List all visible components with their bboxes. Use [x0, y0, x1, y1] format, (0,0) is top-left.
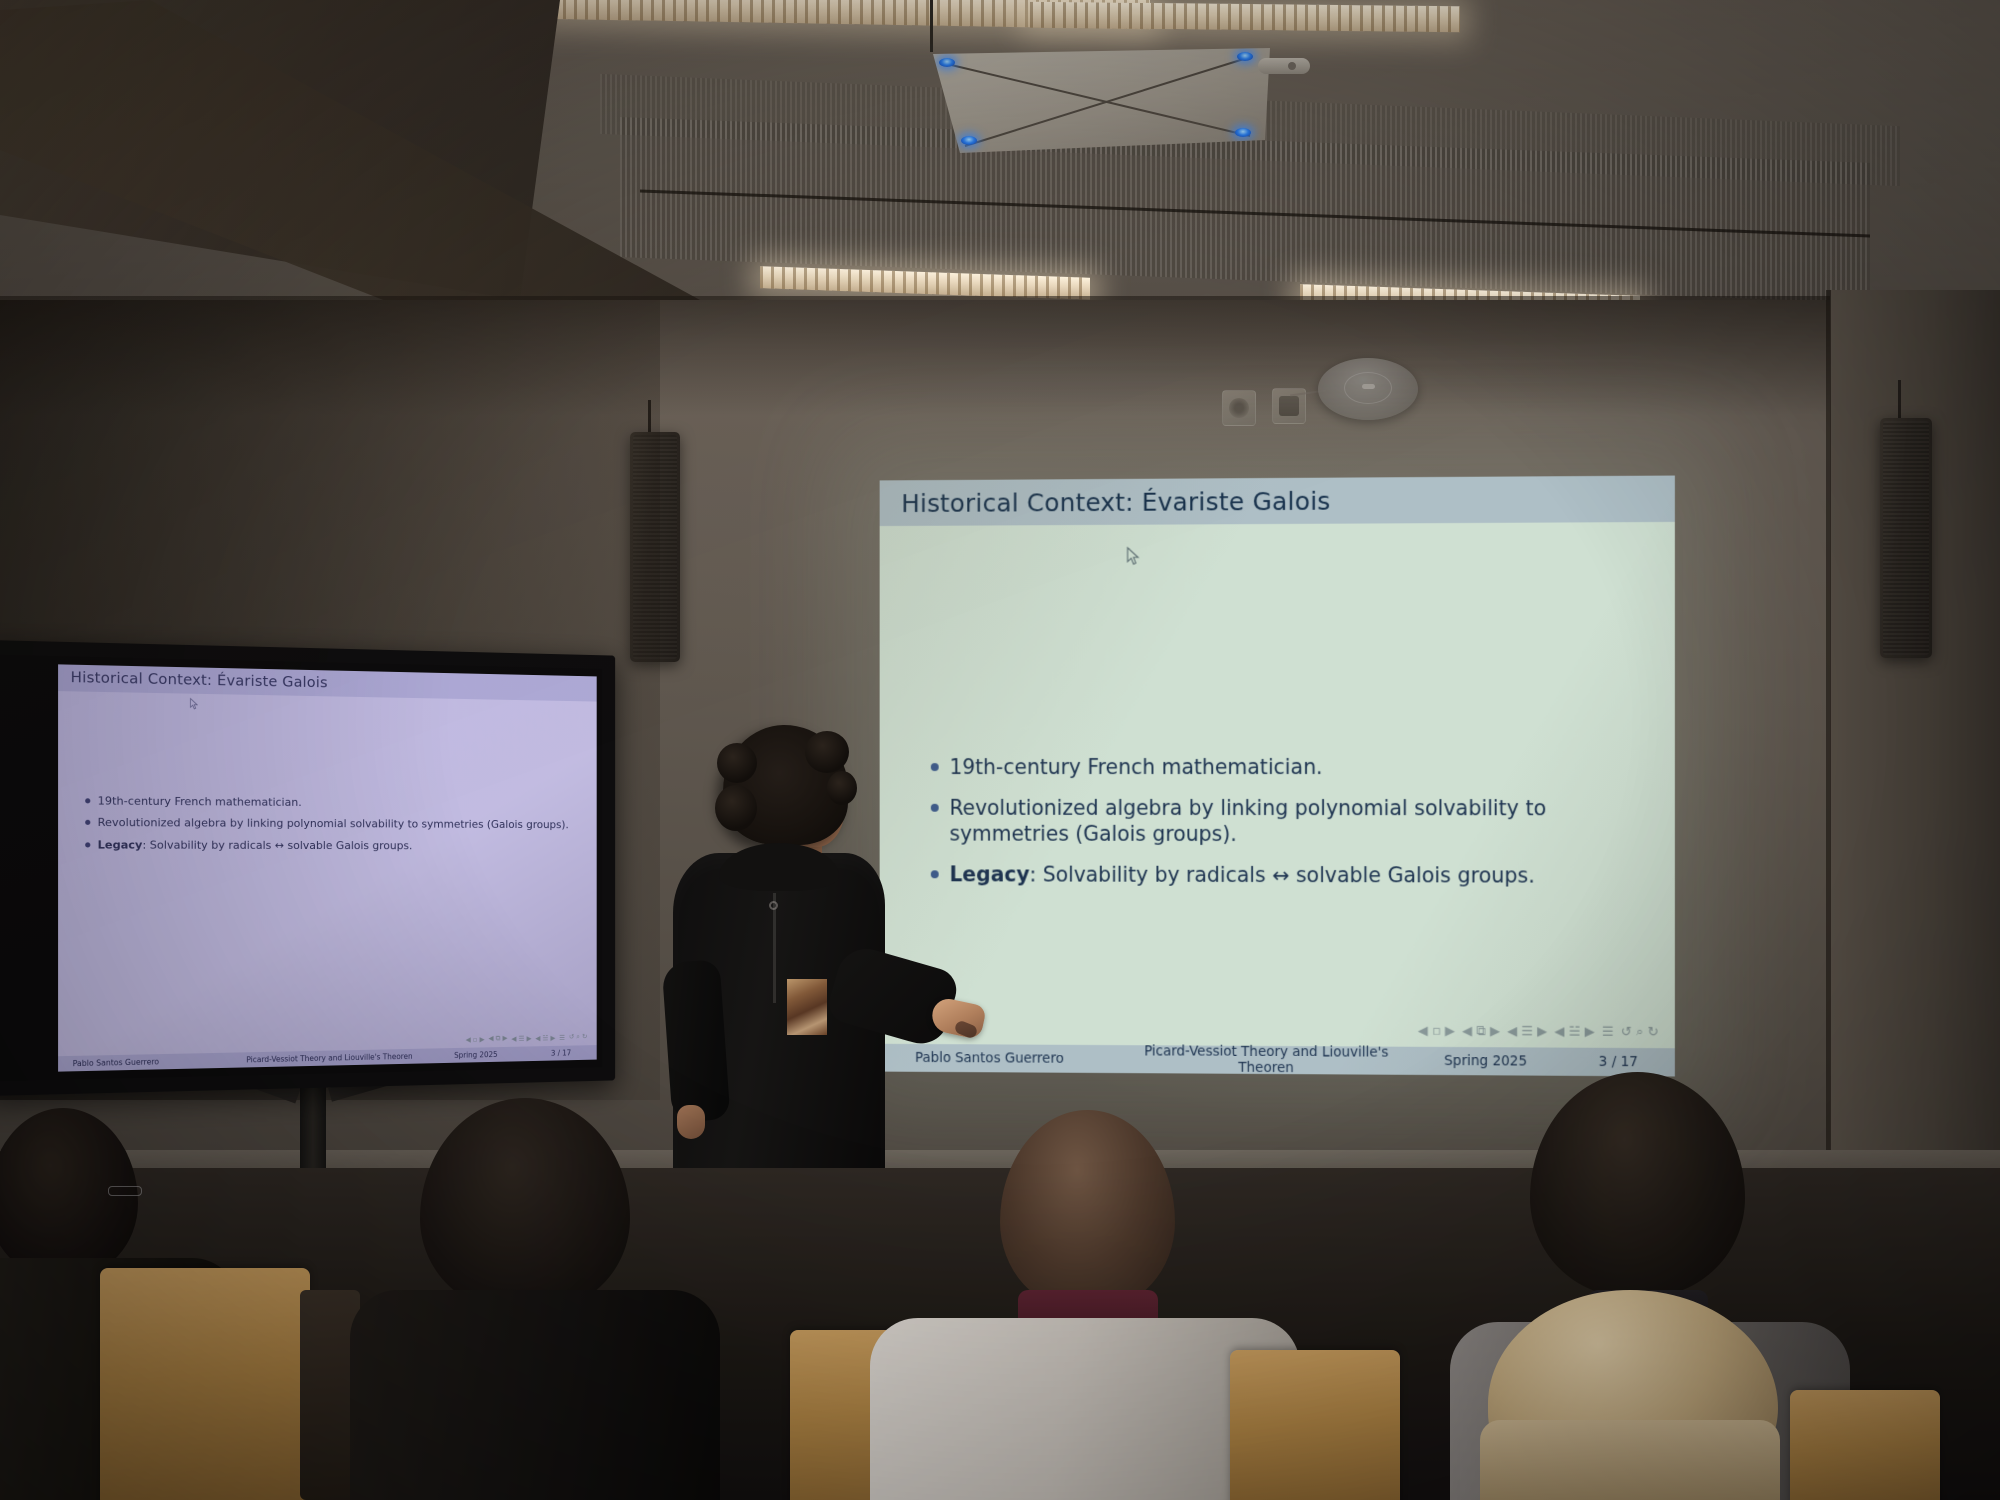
confidence-monitor: Historical Context: Évariste Galois 19th… [0, 640, 615, 1096]
right-wall-edge [1826, 290, 1831, 1150]
panel-led-top-left [939, 58, 955, 67]
nav-section-icon[interactable]: ◀ ☰ ▶ [511, 1034, 531, 1042]
monitor-footer-date: Spring 2025 [426, 1049, 525, 1060]
bullet-dot-icon [931, 763, 939, 771]
audience-5-hair-lower [1480, 1420, 1780, 1500]
ceiling-mic-sensor-panel [925, 48, 1270, 153]
wifi-access-point [1318, 358, 1418, 420]
panel-x-pattern [925, 48, 1270, 153]
monitor-footer-author: Pablo Santos Guerrero [58, 1056, 232, 1069]
panel-led-bottom-right [1235, 128, 1251, 137]
monitor-bullet-3-text: : Solvability by radicals ↔ solvable Gal… [142, 838, 412, 852]
nav-back-find-forward-icon[interactable]: ↺ ⌕ ↻ [1621, 1025, 1659, 1040]
monitor-bullet-3-lead: Legacy [98, 838, 143, 851]
presenter-left-arm [661, 959, 730, 1123]
presenter-hair-curl-4 [827, 771, 857, 805]
projection-screen: Historical Context: Évariste Galois 19th… [880, 476, 1675, 1077]
chair-back-3 [1230, 1350, 1400, 1500]
power-outlet[interactable] [1222, 390, 1256, 426]
slide-bullet-3-wrap: Legacy: Solvability by radicals ↔ solvab… [950, 861, 1535, 889]
chair-back-4 [1790, 1390, 1940, 1500]
nav-frame-icon[interactable]: ◀ ▫ ▶ [466, 1035, 485, 1043]
ceiling-light-strip-2 [1030, 2, 1460, 33]
audience-2-shoulders [350, 1290, 720, 1500]
nav-doc-icon[interactable]: ◀ ☱ ▶ [1554, 1024, 1594, 1039]
monitor-bullet-1: 19th-century French mathematician. [85, 794, 578, 812]
lecture-hall-scene: Historical Context: Évariste Galois 19th… [0, 0, 2000, 1500]
presenter-hair-curl-1 [717, 743, 757, 783]
nav-back-find-forward-icon[interactable]: ↺ ⌕ ↻ [569, 1033, 588, 1042]
presenter-hoodie-grommet [769, 901, 778, 910]
nav-all-icon[interactable]: ☰ [1602, 1025, 1614, 1040]
speaker-cable-right [1898, 380, 1901, 422]
wall-speaker-right [1880, 418, 1932, 658]
slide-bullet-1: 19th-century French mathematician. [931, 754, 1637, 781]
presenter-hair-curl-3 [715, 785, 757, 831]
monitor-bullet-2-text: Revolutionized algebra by linking polyno… [98, 816, 569, 833]
presenter-hair-curl-2 [805, 731, 849, 773]
presenter-left-hand [677, 1105, 705, 1139]
nav-all-icon[interactable]: ☰ [559, 1034, 565, 1042]
monitor-bullet-1-text: 19th-century French mathematician. [98, 794, 302, 810]
bullet-dot-icon [931, 870, 939, 878]
slide-bullet-2: Revolutionized algebra by linking polyno… [931, 795, 1637, 849]
monitor-footer-page: 3 / 17 [525, 1048, 597, 1058]
monitor-bullet-3-wrap: Legacy: Solvability by radicals ↔ solvab… [98, 838, 413, 853]
slide-bullet-3-text: : Solvability by radicals ↔ solvable Gal… [1029, 862, 1534, 887]
beamer-navigation-bar[interactable]: ◀ ▫ ▶ ◀ ⧉ ▶ ◀ ☰ ▶ ◀ ☱ ▶ ☰ ↺ ⌕ ↻ [1418, 1024, 1659, 1040]
network-jack-icon [1279, 396, 1299, 416]
monitor-footer-title: Picard-Vessiot Theory and Liouville's Th… [232, 1052, 426, 1065]
projected-slide: Historical Context: Évariste Galois 19th… [880, 476, 1675, 1077]
monitor-navigation-bar[interactable]: ◀ ▫ ▶ ◀ ⧉ ▶ ◀ ☰ ▶ ◀ ☱ ▶ ☰ ↺ ⌕ ↻ [466, 1033, 588, 1044]
access-point-led [1362, 384, 1375, 389]
slide-footer: Pablo Santos Guerrero Picard-Vessiot The… [880, 1044, 1675, 1077]
power-outlet-icon [1229, 398, 1249, 418]
monitor-bullet-3: Legacy: Solvability by radicals ↔ solvab… [85, 838, 578, 854]
presenter-hoodie-graphic [787, 979, 827, 1035]
bullet-dot-icon [85, 842, 90, 847]
ceiling-panel-mount-arm [1258, 58, 1310, 74]
nav-subsection-icon[interactable]: ◀ ⧉ ▶ [1462, 1024, 1500, 1039]
slide-body: 19th-century French mathematician. Revol… [880, 522, 1675, 1042]
bullet-dot-icon [85, 820, 90, 825]
bullet-dot-icon [85, 798, 90, 803]
slide-footer-page: 3 / 17 [1562, 1054, 1675, 1071]
slide-bullet-2-text: Revolutionized algebra by linking polyno… [950, 795, 1637, 849]
monitor-slide-body: 19th-century French mathematician. Revol… [58, 691, 597, 1049]
slide-title: Historical Context: Évariste Galois [901, 486, 1330, 517]
monitor-screen: Historical Context: Évariste Galois 19th… [58, 664, 597, 1071]
nav-subsection-icon[interactable]: ◀ ⧉ ▶ [488, 1034, 507, 1043]
slide-title-bar: Historical Context: Évariste Galois [880, 476, 1675, 527]
slide-bullet-3: Legacy: Solvability by radicals ↔ solvab… [931, 861, 1637, 889]
slide-footer-date: Spring 2025 [1410, 1053, 1562, 1070]
chair-back-1 [100, 1268, 310, 1500]
slide-bullet-1-text: 19th-century French mathematician. [950, 754, 1323, 781]
slide-footer-title: Picard-Vessiot Theory and Liouville's Th… [1123, 1043, 1409, 1076]
nav-section-icon[interactable]: ◀ ☰ ▶ [1507, 1024, 1547, 1039]
nav-doc-icon[interactable]: ◀ ☱ ▶ [535, 1034, 555, 1042]
panel-led-bottom-left [961, 136, 977, 145]
slide-bullet-3-lead: Legacy [950, 862, 1030, 886]
audience-1-glasses [108, 1186, 142, 1196]
panel-led-top-right [1237, 52, 1253, 61]
monitor-bullet-2: Revolutionized algebra by linking polyno… [85, 816, 578, 833]
ceiling-panel-cable [930, 0, 933, 52]
monitor-slide-title: Historical Context: Évariste Galois [71, 670, 328, 692]
nav-frame-icon[interactable]: ◀ ▫ ▶ [1418, 1024, 1455, 1039]
bullet-dot-icon [931, 803, 939, 811]
ceiling-panel-mount-screw [1288, 62, 1296, 70]
slide-footer-author: Pablo Santos Guerrero [880, 1050, 1124, 1067]
